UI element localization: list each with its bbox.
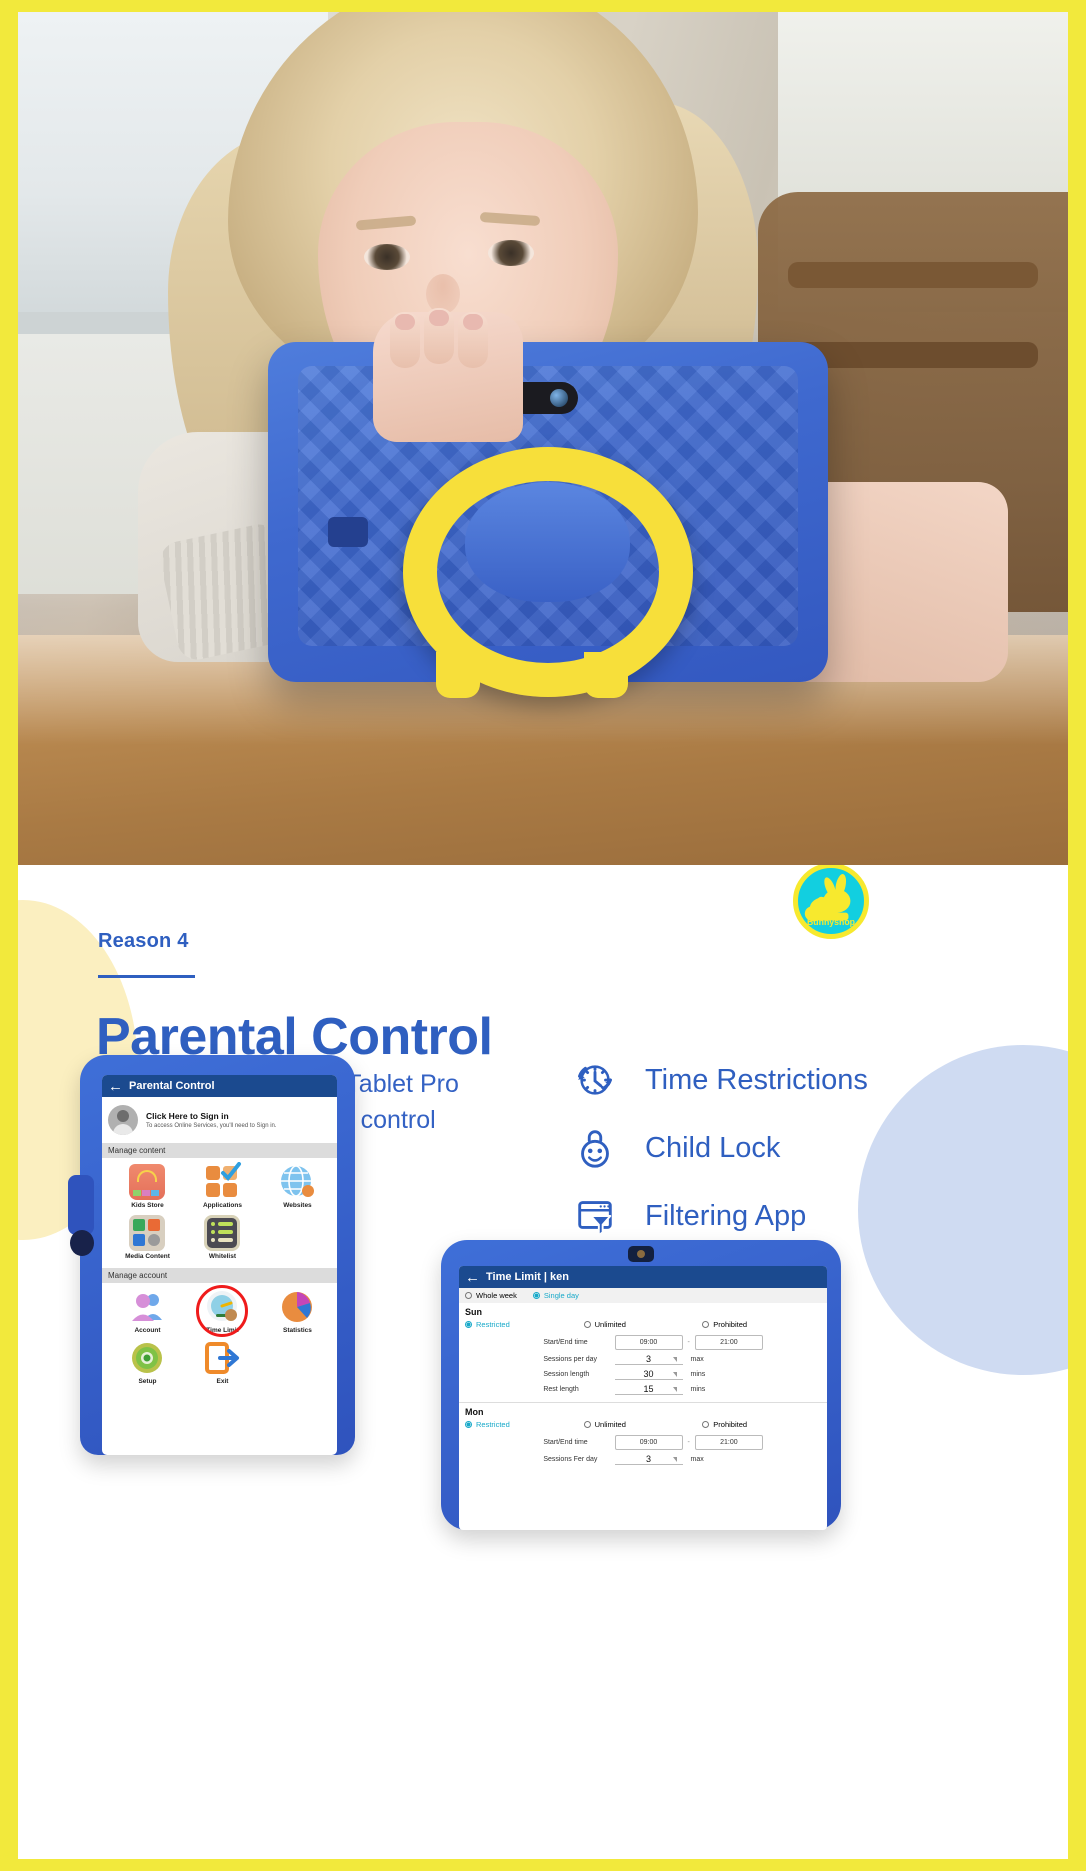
grid-item-account[interactable]: Account: [110, 1289, 185, 1334]
radio-dot: [584, 1321, 591, 1328]
field-start-end-time-sun: Start/End time 09:00 - 21:00: [459, 1333, 827, 1352]
gauge-icon: [204, 1289, 240, 1325]
back-arrow-icon[interactable]: ←: [108, 1079, 123, 1094]
bunnyshop-logo: Bunnyshop: [793, 865, 869, 939]
radio-dot: [465, 1292, 472, 1299]
mode-label: Prohibited: [713, 1420, 747, 1429]
stand-foot-left: [436, 652, 480, 698]
field-session-length-sun: Session length 30 mins: [459, 1367, 827, 1382]
users-icon: [129, 1289, 165, 1325]
clock-icon: [563, 1052, 627, 1108]
grid-item-kids-store[interactable]: Kids Store: [110, 1164, 185, 1209]
mode-label: Unlimited: [595, 1420, 626, 1429]
mode-options-mon: Restricted Unlimited Prohibited: [459, 1419, 827, 1433]
child-lock-icon: [563, 1120, 627, 1176]
grid-item-empty-2: [260, 1340, 335, 1385]
ring-hub: [465, 482, 630, 602]
manage-content-grid: Kids Store Applications: [102, 1158, 337, 1268]
radio-dot: [465, 1321, 472, 1328]
field-label: Sessions per day: [465, 1356, 615, 1363]
feature-label: Time Restrictions: [645, 1064, 868, 1097]
grid-label: Setup: [110, 1378, 185, 1385]
field-rest-length-sun: Rest length 15 mins: [459, 1382, 827, 1397]
sessions-stepper[interactable]: 3: [615, 1454, 683, 1465]
filter-window-icon: [563, 1188, 627, 1244]
field-sessions-per-day-sun: Sessions per day 3 max: [459, 1352, 827, 1367]
tablet-camera-right: [628, 1246, 654, 1262]
titlebar-label: Parental Control: [129, 1080, 215, 1092]
titlebar-label: Time Limit | ken: [486, 1271, 569, 1283]
grid-label: Websites: [260, 1202, 335, 1209]
field-label: Start/End time: [465, 1339, 615, 1346]
start-time-input[interactable]: 09:00: [615, 1435, 683, 1450]
gear-icon: [129, 1340, 165, 1376]
sessions-stepper[interactable]: 3: [615, 1354, 683, 1365]
grid-label: Account: [110, 1327, 185, 1334]
field-unit: mins: [691, 1371, 706, 1378]
radio-dot: [465, 1421, 472, 1428]
field-unit: mins: [691, 1386, 706, 1393]
case-side-button: [328, 517, 368, 547]
mode-label: Unlimited: [595, 1320, 626, 1329]
mode-options-sun: Restricted Unlimited Prohibited: [459, 1319, 827, 1333]
back-arrow-icon[interactable]: ←: [465, 1270, 480, 1285]
globe-icon: [279, 1164, 315, 1200]
end-time-input[interactable]: 21:00: [695, 1335, 763, 1350]
grid-item-time-limit[interactable]: Time Limit: [185, 1289, 260, 1334]
day-label-mon: Mon: [459, 1403, 827, 1419]
pie-chart-icon: [279, 1289, 315, 1325]
grid-item-exit[interactable]: Exit: [185, 1340, 260, 1385]
sign-in-subtitle: To access Online Services, you'll need t…: [146, 1123, 277, 1129]
grid-item-statistics[interactable]: Statistics: [260, 1289, 335, 1334]
grid-item-setup[interactable]: Setup: [110, 1340, 185, 1385]
manage-account-grid: Account Time Limit Statistics: [102, 1283, 337, 1393]
mode-prohibited[interactable]: Prohibited: [702, 1420, 821, 1429]
section-header-manage-account: Manage account: [102, 1268, 337, 1283]
sign-in-row[interactable]: Click Here to Sign in To access Online S…: [102, 1097, 337, 1143]
tablet-screenshot-time-limit: ← Time Limit | ken Whole week Single day…: [441, 1240, 841, 1530]
grid-item-websites[interactable]: Websites: [260, 1164, 335, 1209]
day-label-sun: Sun: [459, 1303, 827, 1319]
radio-dot: [584, 1421, 591, 1428]
screen-right: ← Time Limit | ken Whole week Single day…: [459, 1266, 827, 1530]
field-label: Session length: [465, 1371, 615, 1378]
hero-photo: [18, 12, 1068, 865]
field-label: Rest length: [465, 1386, 615, 1393]
radio-dot: [702, 1321, 709, 1328]
grid-label: Statistics: [260, 1327, 335, 1334]
radio-label: Single day: [544, 1291, 579, 1300]
fingernail-2: [429, 310, 449, 326]
end-time-input[interactable]: 21:00: [695, 1435, 763, 1450]
mode-restricted[interactable]: Restricted: [465, 1420, 584, 1429]
page-frame: Reason 4 Parental Control Monitor usage …: [0, 0, 1086, 1871]
grid-item-applications[interactable]: Applications: [185, 1164, 260, 1209]
mode-restricted[interactable]: Restricted: [465, 1320, 584, 1329]
scope-radio-group: Whole week Single day: [459, 1288, 827, 1303]
radio-whole-week[interactable]: Whole week: [465, 1291, 517, 1300]
mode-unlimited[interactable]: Unlimited: [584, 1320, 703, 1329]
range-dash: -: [688, 1439, 690, 1446]
grid-item-empty: [260, 1215, 335, 1260]
section-eyebrow: Reason 4: [98, 930, 189, 953]
media-folder-icon: [129, 1215, 165, 1251]
grid-label: Kids Store: [110, 1202, 185, 1209]
fingernail-3: [463, 314, 483, 330]
radio-single-day[interactable]: Single day: [533, 1291, 579, 1300]
apps-check-icon: [204, 1164, 240, 1200]
mode-prohibited[interactable]: Prohibited: [702, 1320, 821, 1329]
mode-label: Restricted: [476, 1320, 510, 1329]
content-section: Reason 4 Parental Control Monitor usage …: [18, 865, 1068, 1859]
grid-label: Media Content: [110, 1253, 185, 1260]
grid-label: Exit: [185, 1378, 260, 1385]
mode-label: Restricted: [476, 1420, 510, 1429]
titlebar-time-limit: ← Time Limit | ken: [459, 1266, 827, 1288]
section-header-manage-content: Manage content: [102, 1143, 337, 1158]
title-rule: [98, 975, 195, 978]
feature-item-time-restrictions: Time Restrictions: [563, 1047, 993, 1113]
exit-icon: [204, 1340, 240, 1376]
feature-item-child-lock: Child Lock: [563, 1115, 993, 1181]
grid-label: Applications: [185, 1202, 260, 1209]
fingernail-1: [395, 314, 415, 330]
radio-dot: [702, 1421, 709, 1428]
field-sessions-per-day-mon: Sessions Fer day 3 max: [459, 1452, 827, 1467]
page-inner: Reason 4 Parental Control Monitor usage …: [18, 12, 1068, 1859]
mode-label: Prohibited: [713, 1320, 747, 1329]
grid-item-media-content[interactable]: Media Content: [110, 1215, 185, 1260]
screen-left: ← Parental Control Click Here to Sign in…: [102, 1075, 337, 1455]
field-label: Start/End time: [465, 1439, 615, 1446]
avatar: [108, 1105, 138, 1135]
field-unit: max: [691, 1356, 704, 1363]
child-eye-right: [488, 240, 534, 266]
feature-label: Child Lock: [645, 1132, 780, 1165]
start-time-input[interactable]: 09:00: [615, 1335, 683, 1350]
titlebar-parental-control: ← Parental Control: [102, 1075, 337, 1097]
feature-label: Filtering App: [645, 1200, 806, 1233]
child-eye-left: [364, 244, 410, 270]
field-unit: max: [691, 1456, 704, 1463]
logo-text: Bunnyshop: [807, 917, 855, 927]
range-dash: -: [688, 1339, 690, 1346]
stand-foot-right: [584, 652, 628, 698]
grid-item-whitelist[interactable]: Whitelist: [185, 1215, 260, 1260]
list-icon: [204, 1215, 240, 1251]
radio-dot: [533, 1292, 540, 1299]
store-bag-icon: [129, 1164, 165, 1200]
mode-unlimited[interactable]: Unlimited: [584, 1420, 703, 1429]
field-start-end-time-mon: Start/End time 09:00 - 21:00: [459, 1433, 827, 1452]
tablet-screenshot-parental-control: ← Parental Control Click Here to Sign in…: [80, 1055, 355, 1455]
session-length-stepper[interactable]: 30: [615, 1369, 683, 1380]
chair-slat-1: [788, 262, 1038, 288]
grid-label: Whitelist: [185, 1253, 260, 1260]
radio-label: Whole week: [476, 1291, 517, 1300]
field-label: Sessions Fer day: [465, 1456, 615, 1463]
rest-length-stepper[interactable]: 15: [615, 1384, 683, 1395]
sign-in-title: Click Here to Sign in: [146, 1111, 277, 1121]
